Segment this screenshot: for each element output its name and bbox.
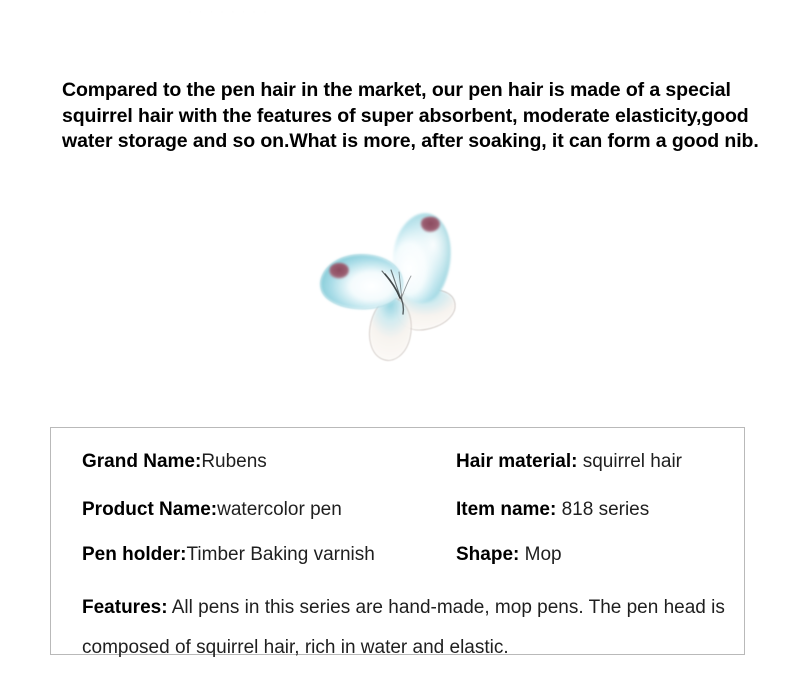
spec-features-value: All pens in this series are hand-made, m…	[82, 597, 725, 658]
spec-hair-material: Hair material: squirrel hair	[456, 450, 682, 473]
intro-paragraph: Compared to the pen hair in the market, …	[62, 78, 780, 155]
watercolor-butterfly-illustration	[300, 198, 485, 373]
spec-shape-value: Mop	[519, 544, 561, 565]
spec-features: Features: All pens in this series are ha…	[82, 588, 730, 668]
spec-item-name-label: Item name:	[456, 499, 556, 520]
spec-features-label: Features:	[82, 597, 168, 618]
spec-grand-name-value: Rubens	[201, 451, 267, 472]
spec-shape-label: Shape:	[456, 544, 519, 565]
spec-hair-material-value: squirrel hair	[577, 451, 682, 472]
spec-product-name: Product Name:watercolor pen	[82, 498, 342, 521]
spec-pen-holder: Pen holder:Timber Baking varnish	[82, 543, 375, 566]
spec-grand-name: Grand Name:Rubens	[82, 450, 267, 473]
page-watermark: · · · · · · · ·	[188, 6, 348, 22]
spec-product-name-value: watercolor pen	[217, 499, 342, 520]
spec-hair-material-label: Hair material:	[456, 451, 577, 472]
spec-pen-holder-label: Pen holder:	[82, 544, 187, 565]
spec-product-name-label: Product Name:	[82, 499, 217, 520]
spec-grand-name-label: Grand Name:	[82, 451, 201, 472]
spec-pen-holder-value: Timber Baking varnish	[187, 544, 375, 565]
spec-shape: Shape: Mop	[456, 543, 562, 566]
product-spec-box: Grand Name:Rubens Hair material: squirre…	[50, 427, 745, 655]
spec-item-name-value: 818 series	[556, 499, 649, 520]
spec-item-name: Item name: 818 series	[456, 498, 649, 521]
